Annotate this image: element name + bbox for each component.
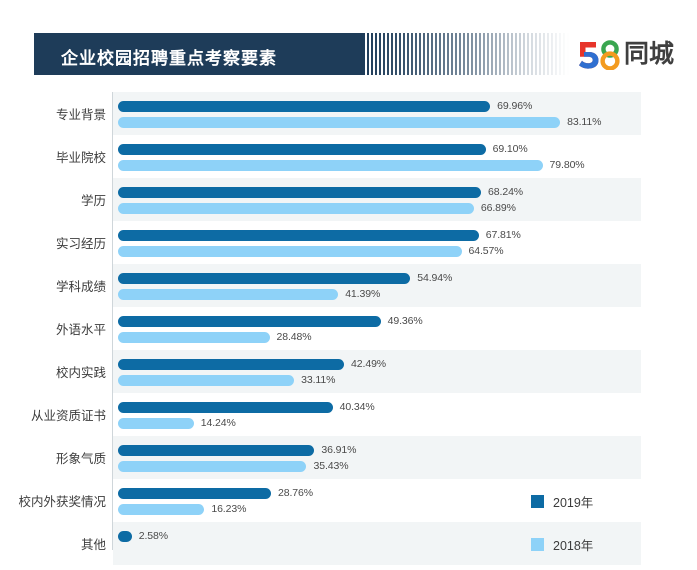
brand-logo: 同城 [576, 36, 674, 72]
bar[interactable] [118, 101, 490, 112]
bar[interactable] [118, 402, 333, 413]
bar-group-y2019[interactable]: 28.76% [118, 487, 313, 499]
bar[interactable] [118, 144, 486, 155]
bar-group-y2019[interactable]: 49.36% [118, 315, 423, 327]
bar[interactable] [118, 418, 194, 429]
bar-group-y2018[interactable]: 79.80% [118, 159, 585, 171]
legend-swatch-icon [531, 538, 544, 551]
row-background [113, 393, 641, 436]
bar-value-label: 68.24% [488, 186, 523, 198]
bar[interactable] [118, 246, 462, 257]
row-background [113, 436, 641, 479]
bar-value-label: 2.58% [139, 530, 168, 542]
bar-value-label: 64.57% [469, 245, 504, 257]
chart-row: 毕业院校69.10%79.80% [0, 135, 697, 178]
chart-row: 实习经历67.81%64.57% [0, 221, 697, 264]
category-label: 实习经历 [0, 221, 106, 264]
bar-group-y2018[interactable]: 35.43% [118, 460, 349, 472]
logo-58-icon [576, 38, 622, 70]
bar-value-label: 35.43% [313, 460, 348, 472]
bar-value-label: 69.96% [497, 100, 532, 112]
bar-value-label: 83.11% [567, 116, 601, 128]
bar-group-y2019[interactable]: 2.58% [118, 530, 168, 542]
bar-value-label: 14.24% [201, 417, 236, 429]
bar-value-label: 16.23% [211, 503, 246, 515]
bar-chart: 专业背景69.96%83.11%毕业院校69.10%79.80%学历68.24%… [0, 92, 697, 550]
row-background [113, 307, 641, 350]
bar-group-y2019[interactable]: 36.91% [118, 444, 356, 456]
bar-value-label: 41.39% [345, 288, 380, 300]
chart-row: 校内实践42.49%33.11% [0, 350, 697, 393]
row-background [113, 264, 641, 307]
category-label: 其他 [0, 522, 106, 565]
bar-value-label: 79.80% [550, 159, 585, 171]
category-label: 校内外获奖情况 [0, 479, 106, 522]
bar-group-y2019[interactable]: 69.10% [118, 143, 528, 155]
bar[interactable] [118, 332, 270, 343]
row-background [113, 92, 641, 135]
legend-swatch-icon [531, 495, 544, 508]
bar[interactable] [118, 117, 560, 128]
category-label: 毕业院校 [0, 135, 106, 178]
legend-label: 2019年 [553, 492, 593, 511]
row-background [113, 178, 641, 221]
bar[interactable] [118, 187, 481, 198]
category-label: 形象气质 [0, 436, 106, 479]
bar[interactable] [118, 488, 271, 499]
bar[interactable] [118, 359, 344, 370]
legend-item-y2019[interactable]: 2019年 [531, 480, 641, 523]
row-background [113, 221, 641, 264]
bar-value-label: 28.48% [277, 331, 312, 343]
bar[interactable] [118, 445, 314, 456]
bar[interactable] [118, 289, 338, 300]
category-label: 从业资质证书 [0, 393, 106, 436]
chart-row: 形象气质36.91%35.43% [0, 436, 697, 479]
bar-group-y2018[interactable]: 41.39% [118, 288, 380, 300]
bar-group-y2018[interactable]: 33.11% [118, 374, 335, 386]
bar-group-y2019[interactable]: 68.24% [118, 186, 523, 198]
bar[interactable] [118, 531, 132, 542]
bar[interactable] [118, 461, 306, 472]
bar-group-y2019[interactable]: 69.96% [118, 100, 532, 112]
bar-value-label: 67.81% [486, 229, 521, 241]
bar-group-y2019[interactable]: 54.94% [118, 272, 452, 284]
bar-group-y2018[interactable]: 83.11% [118, 116, 601, 128]
chart-legend: 2019年2018年 [531, 480, 641, 566]
bar-value-label: 33.11% [301, 374, 335, 386]
legend-item-y2018[interactable]: 2018年 [531, 523, 641, 566]
bar-group-y2018[interactable]: 16.23% [118, 503, 246, 515]
bar[interactable] [118, 375, 294, 386]
category-label: 外语水平 [0, 307, 106, 350]
bar-group-y2019[interactable]: 40.34% [118, 401, 375, 413]
row-background [113, 135, 641, 178]
chart-row: 从业资质证书40.34%14.24% [0, 393, 697, 436]
chart-row: 专业背景69.96%83.11% [0, 92, 697, 135]
bar-value-label: 36.91% [321, 444, 356, 456]
category-label: 校内实践 [0, 350, 106, 393]
bar[interactable] [118, 203, 474, 214]
bar[interactable] [118, 273, 410, 284]
bar-value-label: 42.49% [351, 358, 386, 370]
logo-wordmark: 同城 [624, 42, 674, 67]
chart-row: 学历68.24%66.89% [0, 178, 697, 221]
bar[interactable] [118, 230, 479, 241]
bar-value-label: 28.76% [278, 487, 313, 499]
bar-group-y2019[interactable]: 42.49% [118, 358, 386, 370]
category-label: 学历 [0, 178, 106, 221]
bar-group-y2018[interactable]: 66.89% [118, 202, 516, 214]
bar[interactable] [118, 504, 204, 515]
category-label: 专业背景 [0, 92, 106, 135]
legend-label: 2018年 [553, 535, 593, 554]
row-background [113, 350, 641, 393]
bar-group-y2018[interactable]: 28.48% [118, 331, 312, 343]
page-title: 企业校园招聘重点考察要素 [61, 44, 277, 69]
bar[interactable] [118, 160, 543, 171]
bar[interactable] [118, 316, 381, 327]
bar-group-y2018[interactable]: 14.24% [118, 417, 236, 429]
category-label: 学科成绩 [0, 264, 106, 307]
bar-group-y2018[interactable]: 64.57% [118, 245, 504, 257]
bar-value-label: 66.89% [481, 202, 516, 214]
chart-row: 学科成绩54.94%41.39% [0, 264, 697, 307]
bar-group-y2019[interactable]: 67.81% [118, 229, 521, 241]
bar-value-label: 40.34% [340, 401, 375, 413]
bar-value-label: 49.36% [388, 315, 423, 327]
bar-value-label: 54.94% [417, 272, 452, 284]
header-stripe-fade [363, 33, 569, 75]
header-band: 企业校园招聘重点考察要素 [34, 33, 663, 75]
chart-row: 外语水平49.36%28.48% [0, 307, 697, 350]
bar-value-label: 69.10% [493, 143, 528, 155]
